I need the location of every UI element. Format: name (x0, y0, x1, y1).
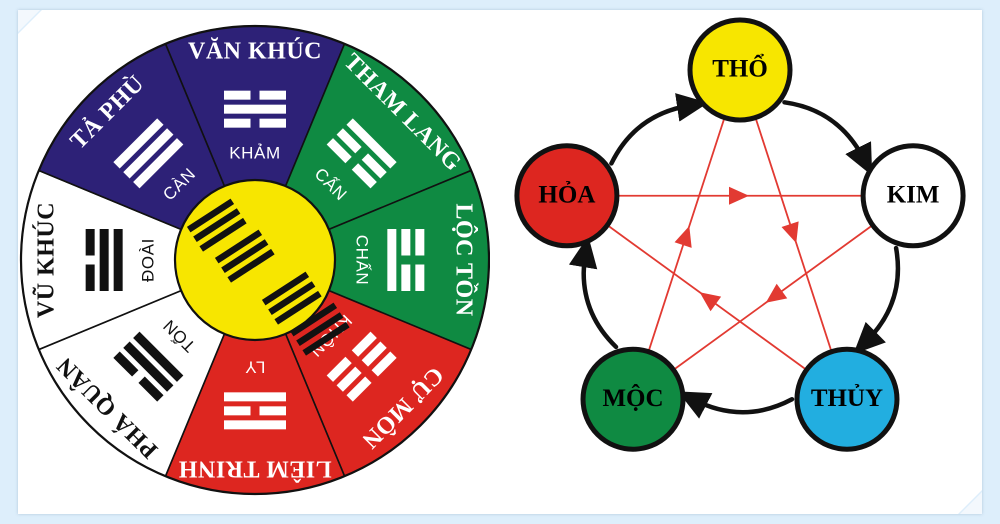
sector-trigram-name: LY (245, 358, 266, 377)
overcoming-arrowhead-THỦY-to-HỎA (694, 285, 721, 311)
diagram-canvas: VĂN KHÚCKHẢMTHAM LANGCẤNLỘC TỒNCHẤNCỰ MÔ… (0, 0, 1000, 524)
bat-quai-star-wheel: VĂN KHÚCKHẢMTHAM LANGCẤNLỘC TỒNCHẤNCỰ MÔ… (10, 0, 490, 524)
sector-star-label: VŨ KHÚC (34, 202, 60, 318)
sector-trigram-name-group: CHẤN (353, 235, 372, 286)
sector-trigram-name-group: KHẢM (229, 143, 281, 162)
generating-arrow-THỔ-to-KIM[interactable] (784, 102, 864, 160)
sector-trigram-name-group: LY (245, 358, 266, 377)
overcoming-arrowhead-THỔ-to-THỦY (782, 221, 805, 246)
ngu-hanh-five-element-cycle: THỔKIMTHỦYMỘCHỎA (490, 12, 990, 512)
overcoming-arrowhead-HỎA-to-KIM (729, 187, 749, 205)
sector-star-label: LIÊM TRINH (178, 455, 331, 482)
sector-star-label: VĂN KHÚC (188, 38, 322, 65)
element-nodes: THỔKIMTHỦYMỘCHỎA (517, 20, 963, 449)
overcoming-cycle-pentagram (607, 118, 872, 370)
sector-trigram-name: CHẤN (353, 235, 372, 286)
generating-arrow-THỦY-to-MỘC[interactable] (693, 399, 792, 412)
element-node-label: THỔ (712, 54, 768, 83)
sector-trigram-name-group: ĐOÀI (138, 238, 157, 282)
element-node-label: KIM (887, 181, 940, 208)
sector-trigram-name: KHẢM (229, 143, 281, 162)
generating-arrow-KIM-to-THỦY[interactable] (866, 248, 898, 342)
sector-star-label-group: LỘC TỒN (450, 203, 477, 316)
overcoming-arrowhead-KIM-to-MỘC (760, 284, 787, 310)
sector-star-label-group: LIÊM TRINH (178, 455, 331, 482)
sector-star-label: LỘC TỒN (450, 203, 477, 316)
element-node-label: MỘC (602, 384, 663, 412)
sector-star-label-group: VĂN KHÚC (188, 38, 322, 65)
sector-star-label-group: VŨ KHÚC (34, 202, 60, 318)
element-node-label: HỎA (538, 180, 595, 208)
overcoming-arrowhead-MỘC-to-THỔ (675, 223, 698, 248)
element-node-label: THỦY (811, 384, 883, 412)
generating-arrow-HỎA-to-THỔ[interactable] (611, 105, 691, 163)
generating-arrow-MỘC-to-HỎA[interactable] (584, 253, 616, 347)
sector-trigram-name: ĐOÀI (138, 238, 157, 282)
